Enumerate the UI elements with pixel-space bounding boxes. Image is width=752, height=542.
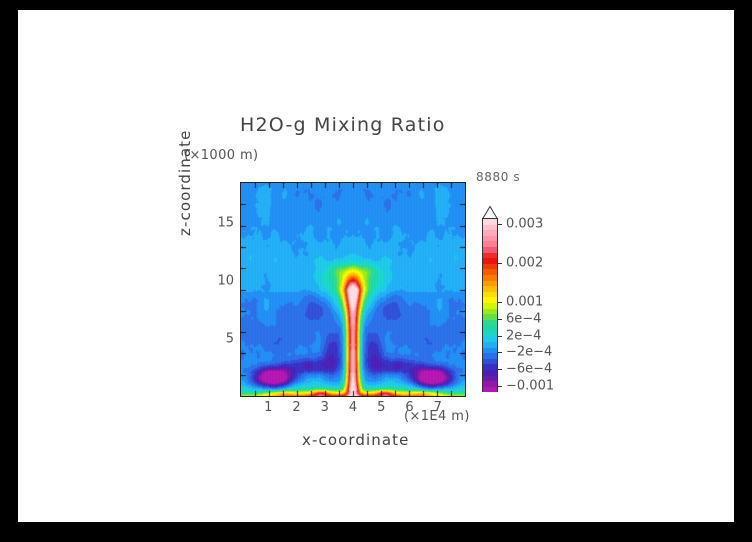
contour-field — [241, 183, 465, 396]
colorbar-tick — [498, 369, 502, 370]
x-axis-title: x-coordinate — [302, 431, 410, 449]
colorbar-tick — [498, 224, 502, 225]
x-tick-label: 2 — [292, 400, 300, 415]
y-axis-title: z-coordinate — [176, 130, 194, 237]
x-axis-unit-label: (×1E4 m) — [404, 409, 470, 424]
colorbar-tick — [498, 319, 502, 320]
y-tick-label: 10 — [217, 273, 234, 288]
colorbar-bands — [482, 218, 498, 392]
colorbar-tick — [498, 352, 502, 353]
y-axis-ticks: 51015 — [208, 10, 234, 542]
x-tick-label: 4 — [349, 400, 357, 415]
colorbar-label: −0.001 — [506, 379, 554, 394]
colorbar-label: 2e−4 — [506, 328, 541, 343]
colorbar-tick — [498, 302, 502, 303]
x-tick-label: 3 — [321, 400, 329, 415]
figure-canvas: H2O-g Mixing Ratio (×1000 m) 8880 s 1234… — [18, 10, 734, 522]
colorbar-label: 0.003 — [506, 216, 543, 231]
contour-plot-area[interactable] — [240, 182, 466, 397]
colorbar-band — [483, 387, 497, 393]
colorbar-label: −2e−4 — [506, 345, 552, 360]
colorbar-label: −6e−4 — [506, 362, 552, 377]
x-tick-label: 1 — [264, 400, 272, 415]
y-tick-label: 15 — [217, 215, 234, 230]
x-tick-label: 5 — [377, 400, 385, 415]
colorbar-label: 0.001 — [506, 295, 543, 310]
colorbar-tick — [498, 263, 502, 264]
time-annotation: 8880 s — [476, 170, 520, 184]
colorbar-label: 0.002 — [506, 255, 543, 270]
y-tick-label: 5 — [226, 331, 234, 346]
page-title: H2O-g Mixing Ratio — [240, 114, 446, 136]
colorbar-label: 6e−4 — [506, 311, 541, 326]
colorbar-tick — [498, 386, 502, 387]
colorbar-tick — [498, 336, 502, 337]
